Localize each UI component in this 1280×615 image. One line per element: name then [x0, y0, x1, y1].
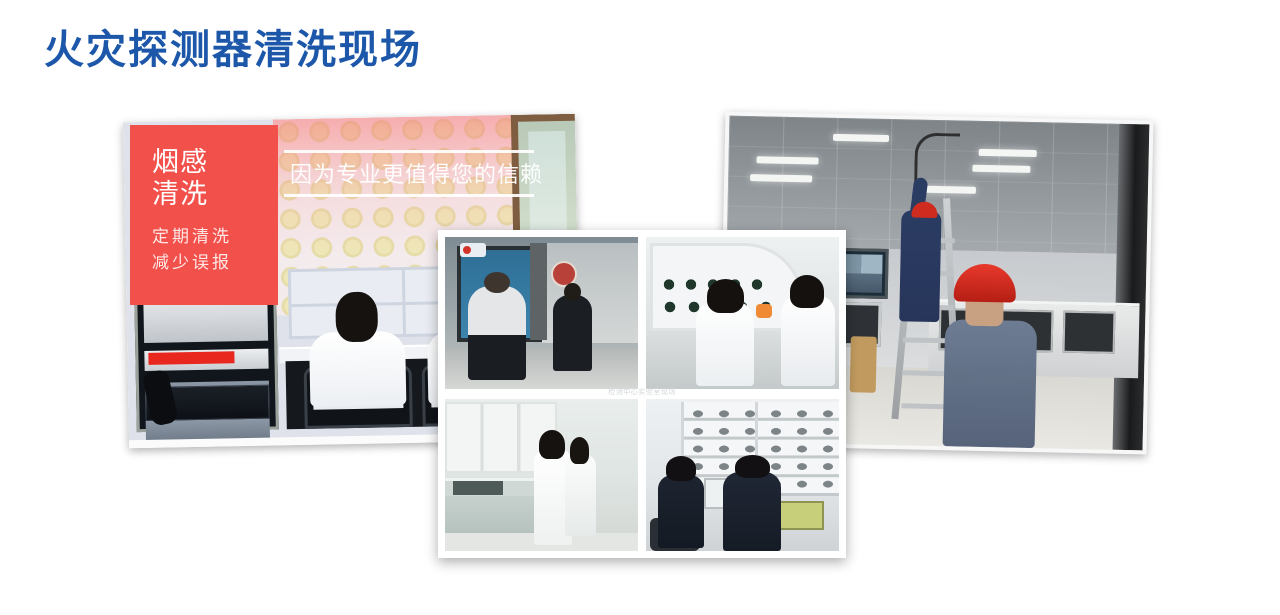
worker-uniform — [899, 210, 941, 322]
operator-hair — [735, 455, 770, 479]
rack-red-indicator — [148, 351, 234, 365]
supervisor-uniform — [943, 320, 1038, 448]
rack-panel-top — [143, 301, 268, 343]
operator-hair — [666, 456, 696, 481]
wall-sign-icon — [460, 243, 486, 257]
badge-subtext-line1: 定期清洗 — [152, 224, 278, 250]
collage-cell-microscope — [646, 237, 839, 389]
collage-cell-corridor — [445, 237, 638, 389]
technician-hair — [570, 437, 590, 463]
orange-tool-icon — [756, 304, 772, 318]
ceiling-light-icon — [750, 174, 812, 182]
collage-cell-storage — [646, 399, 839, 551]
collage-cell-workbench — [445, 399, 638, 551]
ceiling-light-icon — [756, 156, 818, 164]
worker-head — [335, 292, 378, 343]
technician-back — [565, 454, 596, 536]
ceiling-light-icon — [833, 134, 889, 142]
ceiling-light-icon — [972, 165, 1030, 173]
technician-hair — [790, 275, 825, 308]
smoke-detector-cleaning-badge: 烟感 清洗 定期清洗 减少误报 — [130, 125, 278, 305]
worker-on-ladder — [893, 171, 946, 322]
operator-left — [658, 475, 704, 548]
sink-basin — [453, 481, 503, 495]
technician-left — [696, 301, 754, 386]
operator-right — [723, 472, 781, 551]
red-hard-hat-icon — [911, 202, 937, 219]
badge-heading-line2: 清洗 — [152, 179, 278, 211]
inspector-foreground — [468, 286, 526, 380]
badge-heading: 烟感 清洗 — [152, 147, 278, 211]
page-title: 火灾探测器清洗现场 — [44, 28, 422, 72]
collage-caption: 检测中心实验室现场 — [445, 387, 839, 397]
badge-subtext: 定期清洗 减少误报 — [152, 224, 278, 277]
technician-right — [781, 295, 835, 386]
technician-hair — [539, 430, 564, 459]
red-hard-hat-icon — [954, 264, 1017, 303]
supervisor-with-hard-hat — [943, 264, 1039, 448]
seated-worker-left — [308, 291, 407, 429]
inspector-background — [553, 295, 592, 371]
lab-coat — [309, 331, 406, 407]
badge-heading-line1: 烟感 — [152, 147, 278, 179]
structural-beam — [530, 243, 547, 340]
console-monitor — [1063, 311, 1116, 354]
laboratory-collage: 检测中心实验室现场 — [438, 230, 846, 558]
door-frame — [1113, 124, 1150, 451]
wooden-chair — [850, 336, 877, 393]
badge-subtext-line2: 减少误报 — [152, 250, 278, 276]
ceiling-light-icon — [979, 149, 1037, 157]
equipment-rack — [134, 291, 279, 432]
technician-hair — [707, 279, 744, 313]
